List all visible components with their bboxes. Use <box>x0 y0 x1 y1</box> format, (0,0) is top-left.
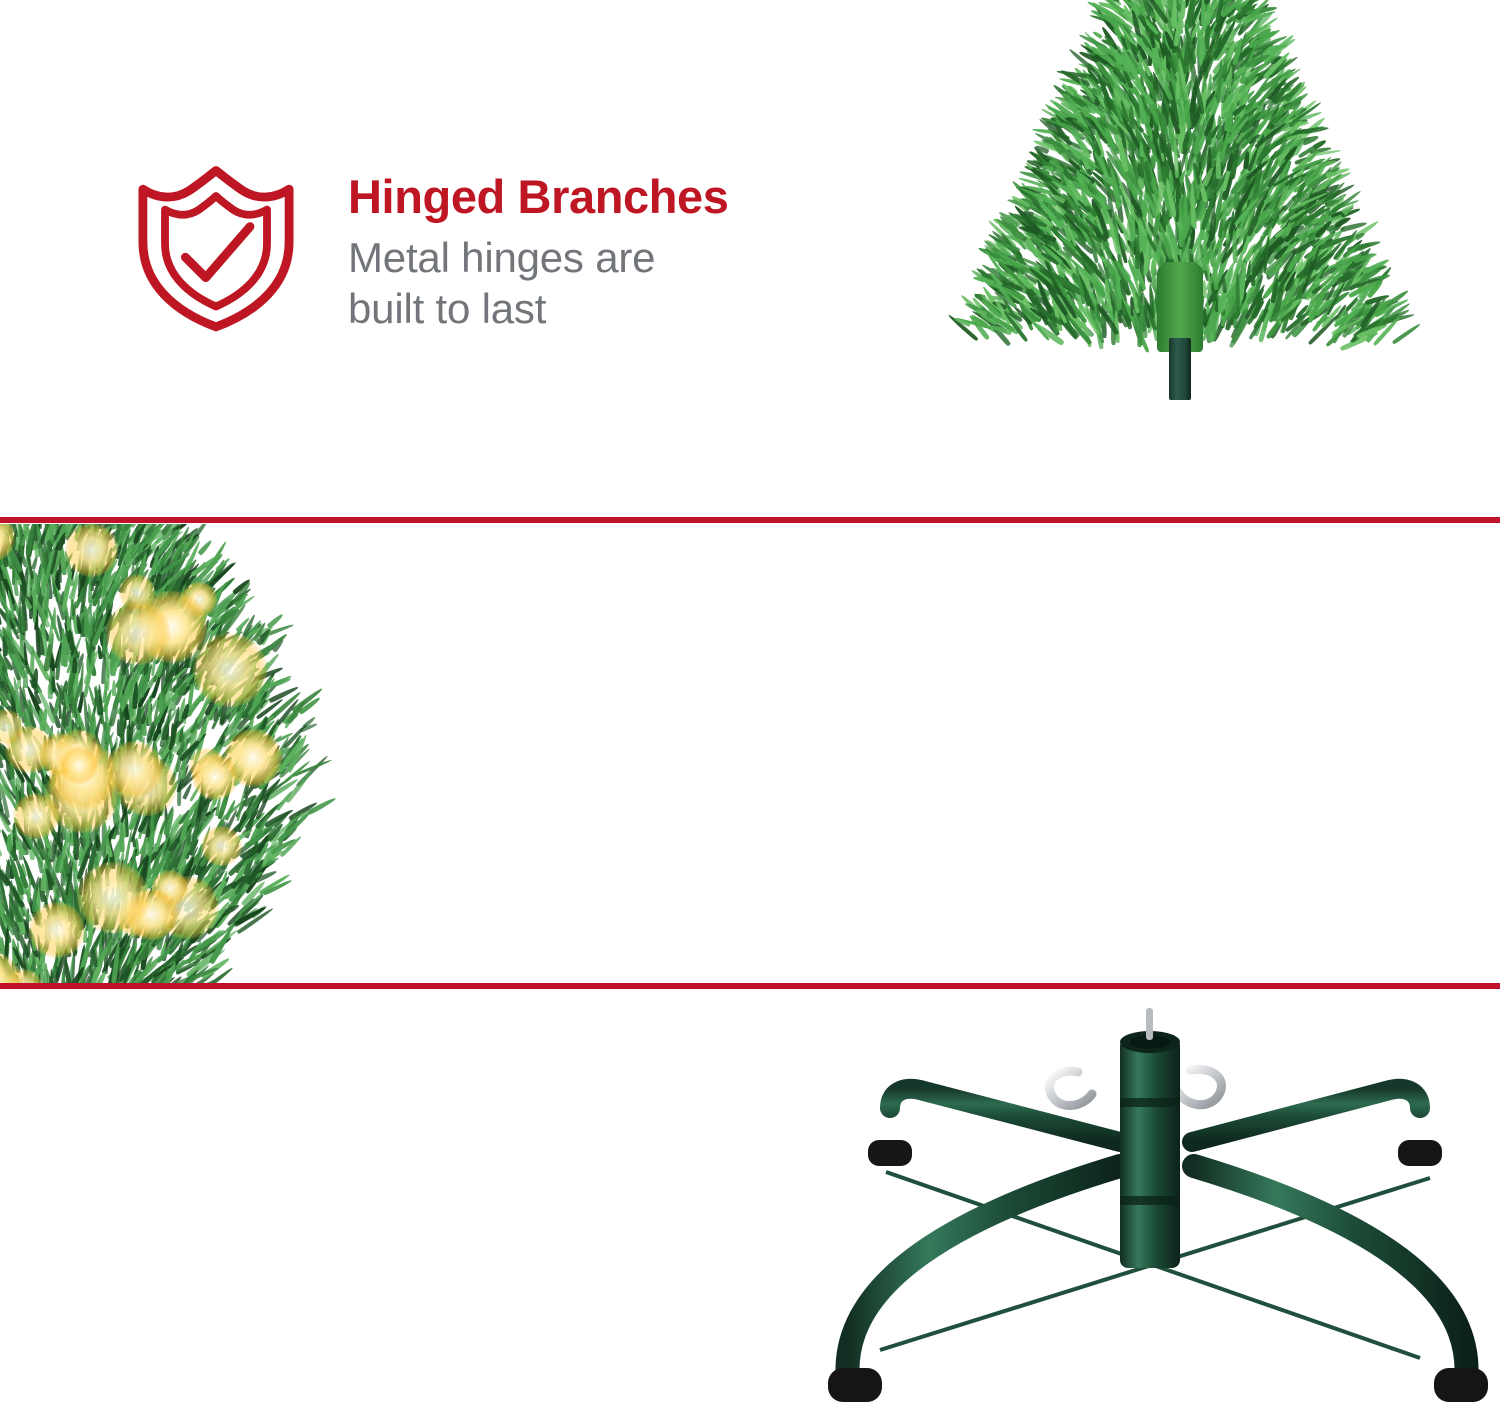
artificial-tree-branch-photo <box>860 0 1500 500</box>
divider-rule-top <box>0 517 1500 523</box>
shield-check-icon <box>131 162 301 332</box>
metal-tree-stand-photo <box>820 990 1500 1412</box>
feature-description-hinged-branches: Metal hinges are built to last <box>348 233 729 334</box>
divider-rule-bottom <box>0 983 1500 989</box>
prelit-tree-closeup-photo <box>0 524 560 983</box>
feature-panel-hinged-branches: Hinged Branches Metal hinges are built t… <box>0 0 1500 518</box>
feature-text-hinged-branches: Hinged Branches Metal hinges are built t… <box>348 172 729 334</box>
product-feature-infographic: Hinged Branches Metal hinges are built t… <box>0 0 1500 1412</box>
feature-description-line: built to last <box>348 284 729 334</box>
feature-panel-sturdy-base: Sturdy Base A reliable metal stand for y… <box>0 990 1500 1412</box>
feature-panel-pvc-tips: PVC Tips Flame-retardant and easy to flu… <box>0 524 1500 983</box>
feature-description-line: Metal hinges are <box>348 233 729 283</box>
feature-title-hinged-branches: Hinged Branches <box>348 172 729 221</box>
